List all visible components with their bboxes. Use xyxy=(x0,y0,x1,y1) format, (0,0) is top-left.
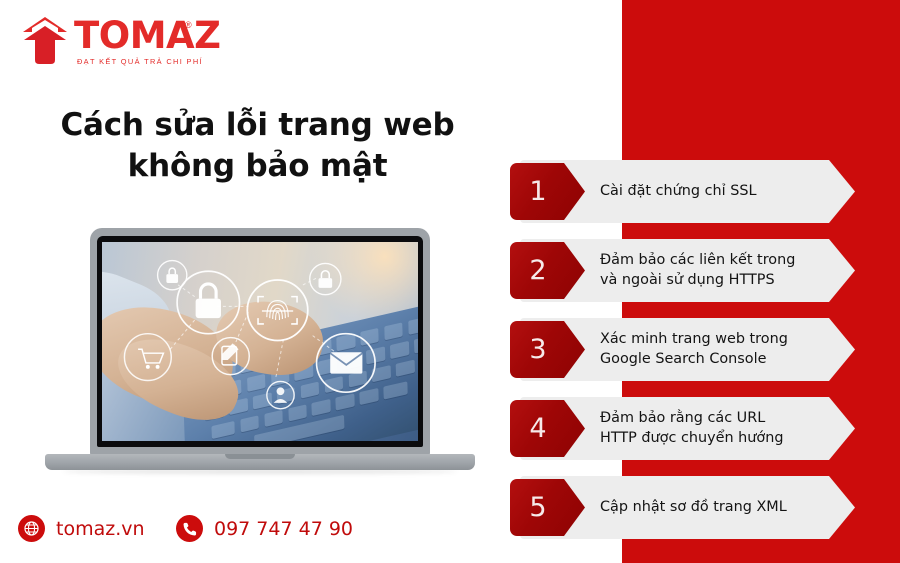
step-label-line-1: Đảm bảo các liên kết trong xyxy=(600,252,795,268)
step-label-line-2: và ngoài sử dụng HTTPS xyxy=(600,272,775,288)
step-label-line-1: Cài đặt chứng chỉ SSL xyxy=(600,183,756,199)
phone-label: 097 747 47 90 xyxy=(214,518,353,540)
step-label-line-1: Xác minh trang web trong xyxy=(600,331,788,347)
globe-icon xyxy=(18,515,45,542)
footer-website[interactable]: tomaz.vn xyxy=(18,515,145,542)
step-row-1[interactable]: 1 Cài đặt chứng chỉ SSL xyxy=(510,160,855,223)
step-label-line-2: Google Search Console xyxy=(600,351,766,367)
phone-icon xyxy=(176,515,203,542)
step-number: 5 xyxy=(510,479,566,536)
step-label-line-2: HTTP được chuyển hướng xyxy=(600,430,783,446)
step-label: Xác minh trang web trong Google Search C… xyxy=(600,318,822,381)
step-number: 3 xyxy=(510,321,566,378)
infographic-canvas: TOMAZ ® ĐẠT KẾT QUẢ TRẢ CHI PHÍ Cách sửa… xyxy=(0,0,900,563)
step-row-4[interactable]: 4 Đảm bảo rằng các URL HTTP được chuyển … xyxy=(510,397,855,460)
step-label: Đảm bảo rằng các URL HTTP được chuyển hư… xyxy=(600,397,822,460)
step-label: Cài đặt chứng chỉ SSL xyxy=(600,160,822,223)
step-label: Cập nhật sơ đồ trang XML xyxy=(600,476,822,539)
step-row-3[interactable]: 3 Xác minh trang web trong Google Search… xyxy=(510,318,855,381)
steps-list: 1 Cài đặt chứng chỉ SSL 2 Đảm bảo các li… xyxy=(0,0,900,563)
step-number: 1 xyxy=(510,163,566,220)
step-label-line-1: Cập nhật sơ đồ trang XML xyxy=(600,499,787,515)
step-label: Đảm bảo các liên kết trong và ngoài sử d… xyxy=(600,239,822,302)
step-number: 2 xyxy=(510,242,566,299)
footer-phone[interactable]: 097 747 47 90 xyxy=(176,515,353,542)
step-row-2[interactable]: 2 Đảm bảo các liên kết trong và ngoài sử… xyxy=(510,239,855,302)
step-label-line-1: Đảm bảo rằng các URL xyxy=(600,410,765,426)
website-label: tomaz.vn xyxy=(56,518,145,540)
step-number: 4 xyxy=(510,400,566,457)
step-row-5[interactable]: 5 Cập nhật sơ đồ trang XML xyxy=(510,476,855,539)
